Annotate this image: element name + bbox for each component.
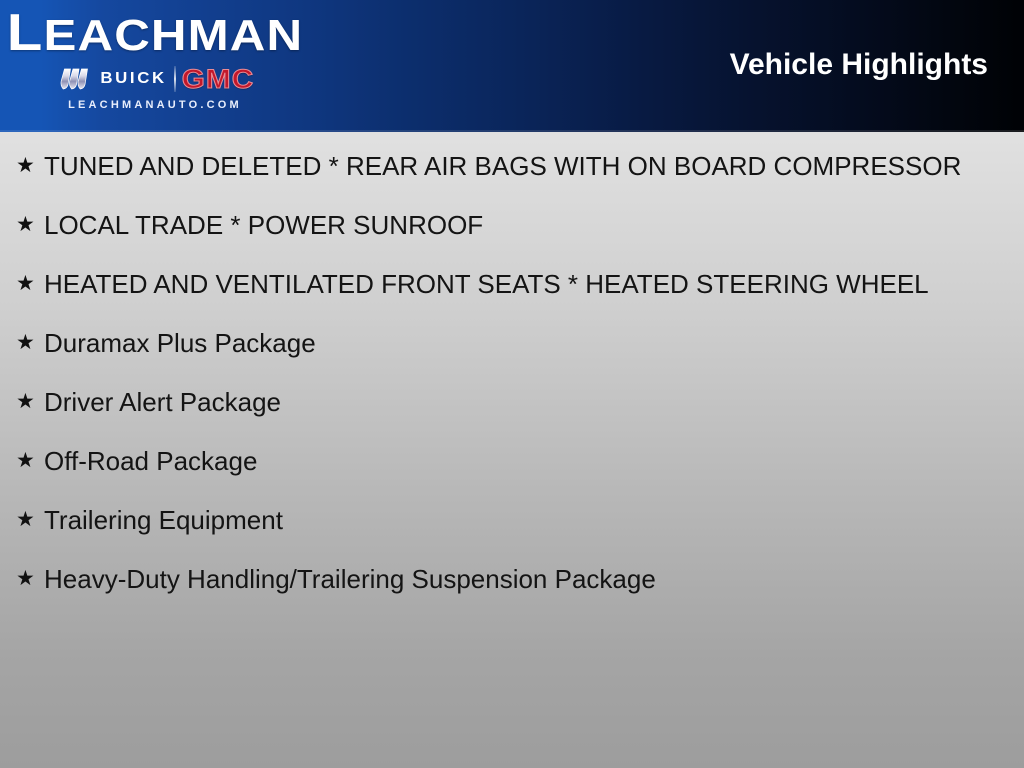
list-item-label: TUNED AND DELETED * REAR AIR BAGS WITH O… bbox=[44, 148, 984, 184]
list-item-label: Heavy-Duty Handling/Trailering Suspensio… bbox=[44, 561, 984, 597]
dealer-website[interactable]: LEACHMANAUTO.COM bbox=[0, 99, 310, 111]
gmc-label: GMC bbox=[182, 64, 255, 95]
list-item-label: LOCAL TRADE * POWER SUNROOF bbox=[44, 207, 984, 243]
list-item: ★ HEATED AND VENTILATED FRONT SEATS * HE… bbox=[14, 266, 1000, 302]
list-item-label: Duramax Plus Package bbox=[44, 325, 984, 361]
page-header: LEACHMAN bbox=[0, 0, 1024, 132]
star-bullet-icon: ★ bbox=[14, 561, 44, 597]
star-bullet-icon: ★ bbox=[14, 266, 44, 302]
list-item: ★ LOCAL TRADE * POWER SUNROOF bbox=[14, 207, 1000, 243]
list-item: ★ Trailering Equipment bbox=[14, 502, 1000, 538]
dealer-wordmark: LEACHMAN bbox=[0, 8, 329, 61]
list-item: ★ Heavy-Duty Handling/Trailering Suspens… bbox=[14, 561, 1000, 597]
buick-tri-shield-icon bbox=[59, 68, 93, 90]
list-item: ★ TUNED AND DELETED * REAR AIR BAGS WITH… bbox=[14, 148, 1000, 184]
page-title: Vehicle Highlights bbox=[730, 48, 988, 82]
star-bullet-icon: ★ bbox=[14, 443, 44, 479]
star-bullet-icon: ★ bbox=[14, 148, 44, 184]
vehicle-highlights-list: ★ TUNED AND DELETED * REAR AIR BAGS WITH… bbox=[0, 132, 1024, 768]
star-bullet-icon: ★ bbox=[14, 384, 44, 420]
buick-label: BUICK bbox=[100, 70, 166, 88]
list-item: ★ Off-Road Package bbox=[14, 443, 1000, 479]
star-bullet-icon: ★ bbox=[14, 207, 44, 243]
list-item-label: Off-Road Package bbox=[44, 443, 984, 479]
star-bullet-icon: ★ bbox=[14, 325, 44, 361]
dealer-logo[interactable]: LEACHMAN bbox=[0, 0, 310, 132]
list-item: ★ Driver Alert Package bbox=[14, 384, 1000, 420]
list-item: ★ Duramax Plus Package bbox=[14, 325, 1000, 361]
list-item-label: Driver Alert Package bbox=[44, 384, 984, 420]
wordmark-rest: EACHMAN bbox=[43, 11, 303, 60]
brand-divider bbox=[174, 66, 176, 92]
list-item-label: Trailering Equipment bbox=[44, 502, 984, 538]
list-item-label: HEATED AND VENTILATED FRONT SEATS * HEAT… bbox=[44, 266, 984, 302]
brand-row: BUICK GMC bbox=[0, 65, 310, 93]
wordmark-initial: L bbox=[7, 4, 44, 62]
star-bullet-icon: ★ bbox=[14, 502, 44, 538]
